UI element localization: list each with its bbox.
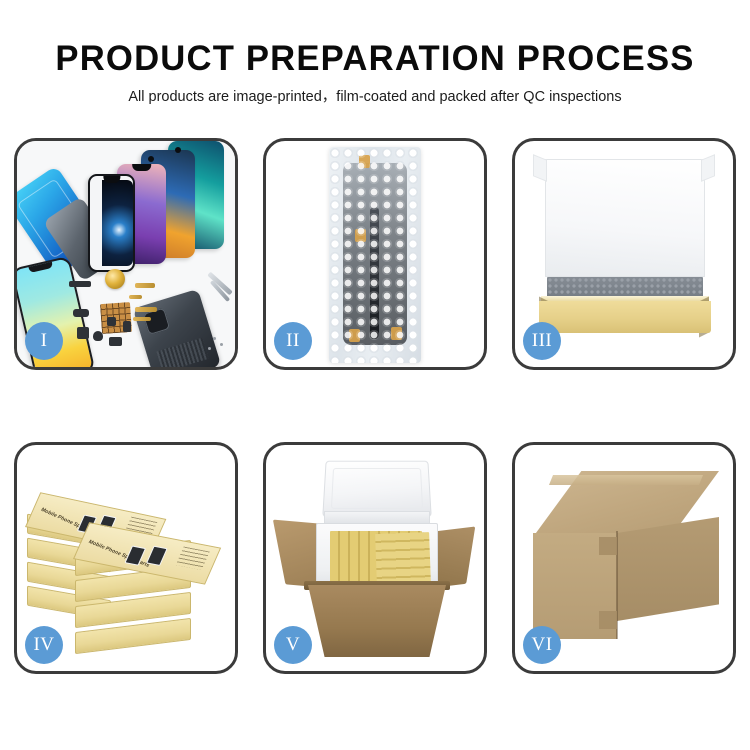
process-step-panel-2: II <box>263 138 487 370</box>
process-steps-grid: I II <box>14 138 736 686</box>
screw-icon <box>220 343 223 346</box>
styrofoam-lid-icon <box>322 461 431 517</box>
flex-cable-icon <box>135 283 155 288</box>
spare-part-icon <box>69 281 91 287</box>
carton-tab-icon <box>599 611 617 629</box>
bubble-wrap-bag-icon <box>329 147 421 363</box>
process-step-panel-1: I <box>14 138 238 370</box>
phone-screen-black-display <box>102 180 133 266</box>
spare-part-icon <box>123 321 131 332</box>
wrapped-cable-icon <box>370 207 379 339</box>
flex-cable-icon <box>135 307 157 312</box>
tape-icon <box>391 327 402 340</box>
box-lid-icon <box>545 159 705 277</box>
phone-screen-black-icon <box>88 174 135 272</box>
product-preparation-infographic: PRODUCT PREPARATION PROCESS All products… <box>0 0 750 750</box>
kraft-box-front-icon <box>539 301 711 333</box>
box-label-phone-image <box>146 546 168 566</box>
tape-icon <box>355 229 366 242</box>
carton-tab-icon <box>599 537 617 555</box>
spare-part-icon <box>93 331 103 341</box>
step-badge-2: II <box>274 322 312 360</box>
spare-part-icon <box>109 337 122 346</box>
header: PRODUCT PREPARATION PROCESS All products… <box>0 38 750 107</box>
notch-icon <box>132 164 152 171</box>
box-label-spec-lines <box>176 547 210 570</box>
step-badge-6: VI <box>523 626 561 664</box>
carton-front-icon <box>308 585 446 657</box>
page-title: PRODUCT PREPARATION PROCESS <box>4 38 747 80</box>
process-step-panel-3: III <box>512 138 736 370</box>
process-step-panel-6: VI <box>512 442 736 674</box>
spare-part-icon <box>73 309 89 317</box>
process-step-panel-5: V <box>263 442 487 674</box>
step-badge-3: III <box>523 322 561 360</box>
screw-icon <box>208 347 211 350</box>
step-badge-1: I <box>25 322 63 360</box>
tape-icon <box>349 329 360 342</box>
yellow-product-boxes-icon <box>375 532 431 584</box>
gold-coil-part-icon <box>105 269 125 289</box>
spare-part-icon <box>107 317 116 326</box>
sealed-carton-right-face-icon <box>617 517 719 621</box>
process-step-panel-4: Mobile Phone Spare Parts Mobile Phone Sp… <box>14 442 238 674</box>
spare-part-icon <box>77 327 89 339</box>
box-lid-flap-left-icon <box>533 154 547 182</box>
camera-punch-icon <box>175 147 181 153</box>
step-badge-4: IV <box>25 626 63 664</box>
flex-cable-icon <box>133 317 151 321</box>
flex-cable-icon <box>129 295 142 299</box>
screw-icon <box>213 337 216 340</box>
carton-tape-icon <box>549 475 703 485</box>
page-subtitle: All products are image-printed，film-coat… <box>0 87 750 107</box>
camera-punch-icon <box>148 156 154 162</box>
box-lid-flap-right-icon <box>701 154 715 182</box>
step-badge-5: V <box>274 626 312 664</box>
tape-icon <box>359 155 370 168</box>
